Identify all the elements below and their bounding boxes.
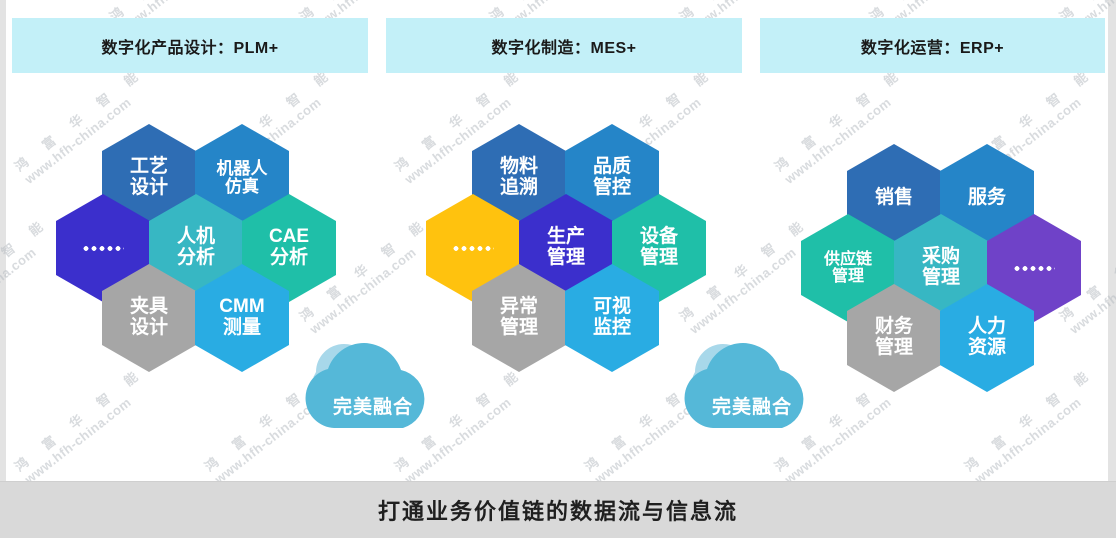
hexagon-label-line: 工艺 xyxy=(130,157,168,178)
hexagon-label-line: 人机 xyxy=(177,227,215,248)
hexagon-label-line: 采购 xyxy=(922,247,960,268)
erp-hexagon-cluster: 销售服务供应链管理采购管理财务管理人力资源 xyxy=(795,144,1095,394)
hexagon-label-line: 分析 xyxy=(177,248,215,269)
watermark-url-text: www.hfh-china.com xyxy=(22,376,158,487)
hexagon-label-line: 设计 xyxy=(130,178,168,199)
left-edge-strip xyxy=(0,0,6,482)
header-box-mes: 数字化制造：MES+ xyxy=(386,18,742,73)
hexagon-label-line: 追溯 xyxy=(500,178,538,199)
watermark-tile: 鸿 富 华 智 能www.hfh-china.com xyxy=(10,361,157,487)
hexagon-label-line: 管理 xyxy=(922,268,960,289)
hexagon-label-line: 管控 xyxy=(593,178,631,199)
bottom-banner: 打通业务价值链的数据流与信息流 xyxy=(0,482,1116,538)
hexagon-label-line: 供应链 xyxy=(824,251,872,268)
hexagon-label-line: 服务 xyxy=(968,188,1006,209)
hexagon-label-line: 分析 xyxy=(270,248,308,269)
cloud-shape-left: 完美融合 xyxy=(298,336,448,434)
cloud-icon xyxy=(677,336,827,434)
hexagon-label-line: 财务 xyxy=(875,317,913,338)
hexagon-label-line: 仿真 xyxy=(225,178,259,196)
hexagon-label-line: 销售 xyxy=(875,188,913,209)
cloud-icon xyxy=(298,336,448,434)
mes-hexagon-cluster: 物料追溯品质管控生产管理设备管理异常管理可视监控 xyxy=(420,124,720,374)
cloud-label-left: 完美融合 xyxy=(298,392,448,419)
hexagon-label-line: 管理 xyxy=(640,248,678,269)
cloud-label-right: 完美融合 xyxy=(677,392,827,419)
hexagon-label-line: 设计 xyxy=(130,318,168,339)
banner-label: 打通业务价值链的数据流与信息流 xyxy=(378,494,738,526)
watermark-cn-text: 鸿 富 华 智 能 xyxy=(0,211,53,325)
header-label-plm: 数字化产品设计：PLM+ xyxy=(101,34,278,58)
hexagon-label-line: 测量 xyxy=(223,318,261,339)
hexagon-label-line: 夹具 xyxy=(130,297,168,318)
hexagon-label-line: 可视 xyxy=(593,297,631,318)
hexagon-label-line: 异常 xyxy=(500,297,538,318)
hexagon-label-line: 人力 xyxy=(968,317,1006,338)
hexagon-label-line: CMM xyxy=(219,297,264,318)
hexagon-label-line: 机器人 xyxy=(217,160,268,178)
right-edge-strip xyxy=(1108,0,1116,482)
hexagon-label-line: 设备 xyxy=(640,227,678,248)
hexagon-label-line: 生产 xyxy=(547,227,585,248)
slide-canvas: 鸿 富 华 智 能www.hfh-china.com鸿 富 华 智 能www.h… xyxy=(0,0,1116,538)
hexagon-label-line: 管理 xyxy=(832,268,864,285)
hexagon-label-line: 监控 xyxy=(593,318,631,339)
hexagon-label-line: CAE xyxy=(269,227,309,248)
hexagon-label-line: 品质 xyxy=(593,157,631,178)
hexagon-label-line: 管理 xyxy=(875,338,913,359)
cloud-shape-right: 完美融合 xyxy=(677,336,827,434)
header-box-erp: 数字化运营：ERP+ xyxy=(760,18,1105,73)
header-label-mes: 数字化制造：MES+ xyxy=(491,34,636,58)
hexagon-label-line: 物料 xyxy=(500,157,538,178)
hexagon-label-line: 管理 xyxy=(547,248,585,269)
header-box-plm: 数字化产品设计：PLM+ xyxy=(12,18,368,73)
hexagon-label-line: 资源 xyxy=(968,338,1006,359)
header-label-erp: 数字化运营：ERP+ xyxy=(861,34,1004,58)
watermark-cn-text: 鸿 富 华 智 能 xyxy=(10,361,148,475)
hexagon-label-line: 管理 xyxy=(500,318,538,339)
